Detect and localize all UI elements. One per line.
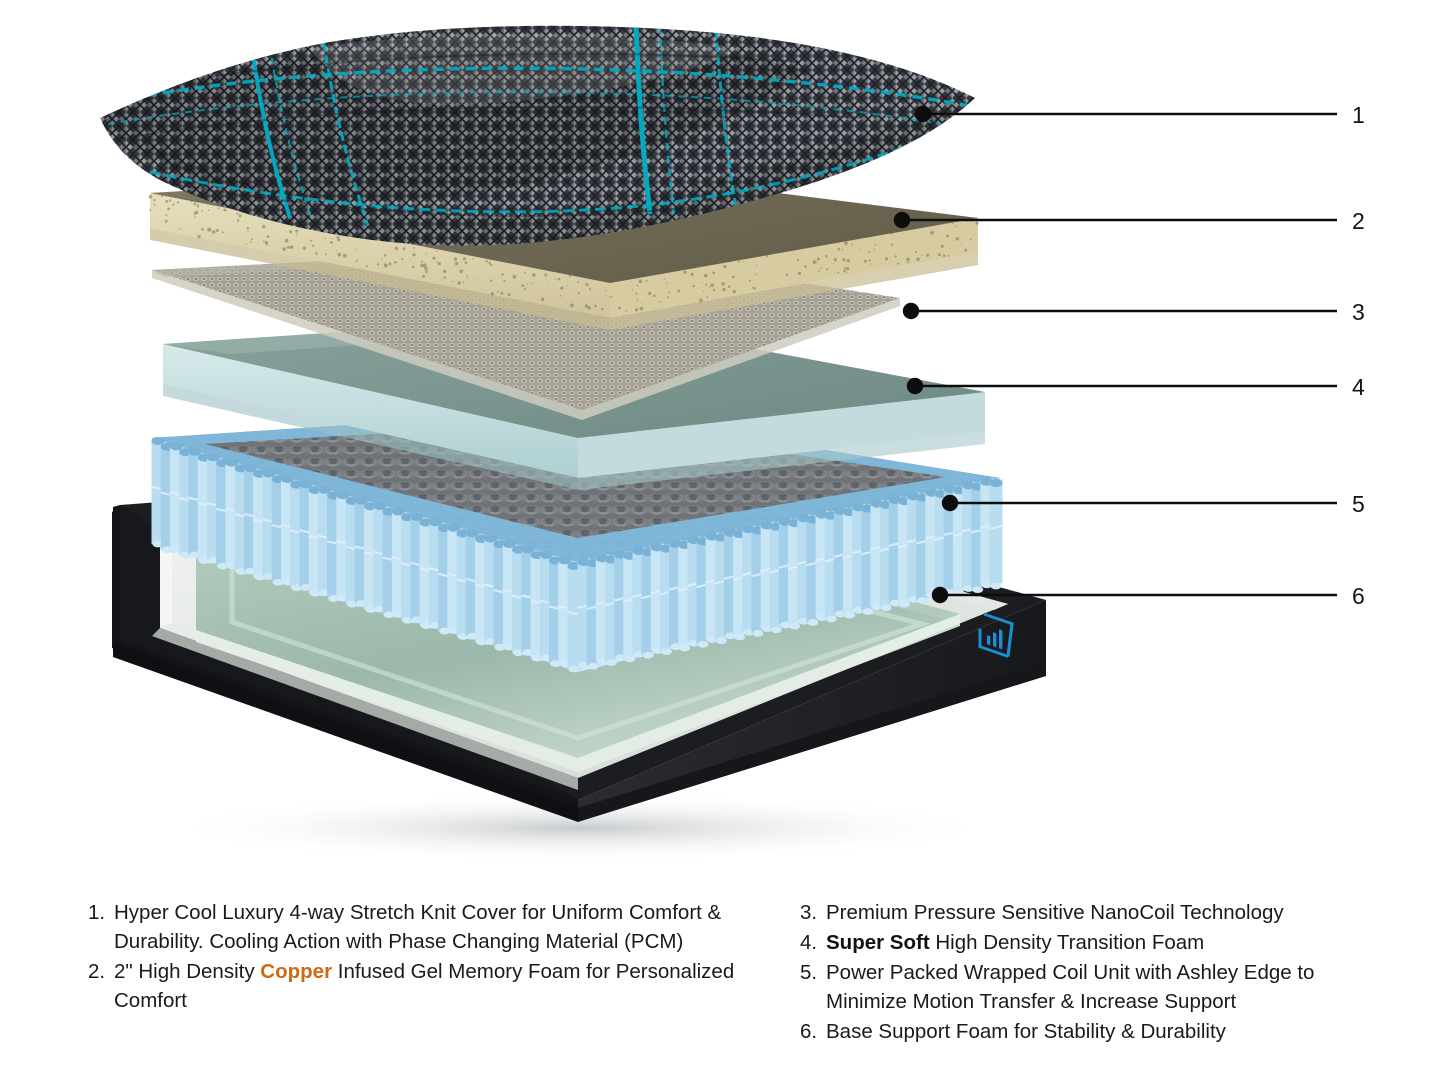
text-run: High Density Transition Foam <box>930 931 1205 954</box>
caption-left-item: 2.2" High Density Copper Infused Gel Mem… <box>88 957 778 1015</box>
text-run: 2" High Density <box>114 960 260 983</box>
bold-highlight: Super Soft <box>826 931 930 954</box>
list-text: 2" High Density Copper Infused Gel Memor… <box>114 957 778 1015</box>
callout-number-1: 1 <box>1352 104 1365 127</box>
list-marker: 5. <box>800 958 826 987</box>
caption-right-item: 5.Power Packed Wrapped Coil Unit with As… <box>800 958 1380 1016</box>
caption-column-right: 3.Premium Pressure Sensitive NanoCoil Te… <box>800 898 1380 1047</box>
copper-highlight: Copper <box>260 960 332 983</box>
caption-left-item: 1.Hyper Cool Luxury 4-way Stretch Knit C… <box>88 898 778 956</box>
list-marker: 3. <box>800 898 826 927</box>
diagram-svg <box>0 0 1445 880</box>
callout-number-5: 5 <box>1352 493 1365 516</box>
callout-number-4: 4 <box>1352 376 1365 399</box>
text-run: Power Packed Wrapped Coil Unit with Ashl… <box>826 961 1314 1013</box>
caption-column-left: 1.Hyper Cool Luxury 4-way Stretch Knit C… <box>88 898 778 1016</box>
text-run: Hyper Cool Luxury 4-way Stretch Knit Cov… <box>114 901 721 953</box>
list-text: Base Support Foam for Stability & Durabi… <box>826 1017 1380 1046</box>
caption-right-item: 6.Base Support Foam for Stability & Dura… <box>800 1017 1380 1046</box>
caption-right-item: 4.Super Soft High Density Transition Foa… <box>800 928 1380 957</box>
callout-number-6: 6 <box>1352 585 1365 608</box>
list-marker: 1. <box>88 898 114 927</box>
list-marker: 2. <box>88 957 114 986</box>
list-marker: 6. <box>800 1017 826 1046</box>
mattress-exploded-diagram: 1 2 3 4 5 6 <box>0 0 1445 880</box>
list-text: Super Soft High Density Transition Foam <box>826 928 1380 957</box>
list-marker: 4. <box>800 928 826 957</box>
caption-block: 1.Hyper Cool Luxury 4-way Stretch Knit C… <box>0 898 1445 1084</box>
text-run: Base Support Foam for Stability & Durabi… <box>826 1020 1226 1043</box>
list-text: Hyper Cool Luxury 4-way Stretch Knit Cov… <box>114 898 778 956</box>
callout-number-3: 3 <box>1352 301 1365 324</box>
text-run: Premium Pressure Sensitive NanoCoil Tech… <box>826 901 1284 924</box>
list-text: Power Packed Wrapped Coil Unit with Ashl… <box>826 958 1380 1016</box>
list-text: Premium Pressure Sensitive NanoCoil Tech… <box>826 898 1380 927</box>
caption-right-item: 3.Premium Pressure Sensitive NanoCoil Te… <box>800 898 1380 927</box>
callout-number-2: 2 <box>1352 210 1365 233</box>
